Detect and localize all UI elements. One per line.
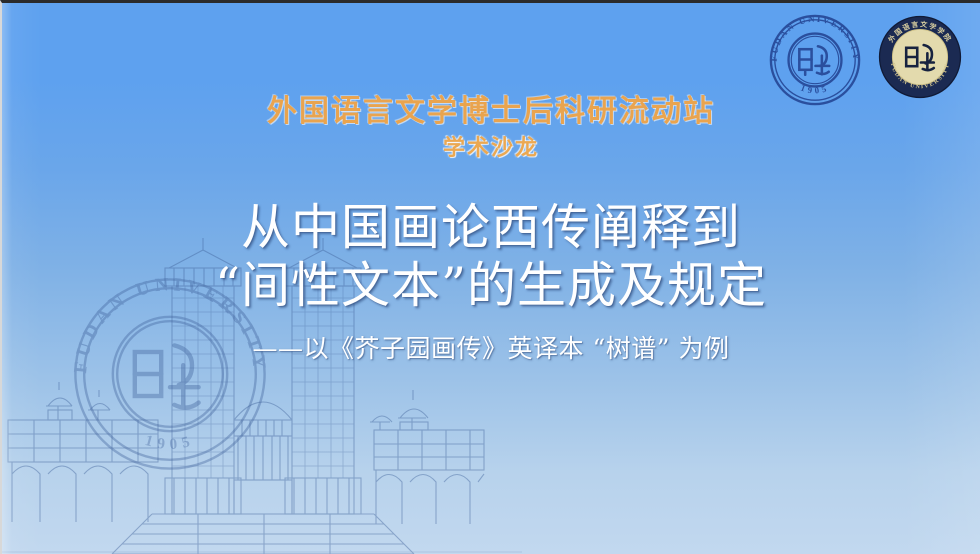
svg-text:FUDAN UNIVERSITY: FUDAN UNIVERSITY (769, 14, 862, 62)
svg-text:1905: 1905 (143, 432, 197, 453)
header-block: 外国语言文学博士后科研流动站 学术沙龙 (2, 95, 980, 161)
fudan-foreign-languages-seal-icon: 外国语言文学学院 FUDAN UNIVERSITY (874, 11, 966, 103)
subtitle: ——以《芥子园画传》英译本 “树谱” 为例 (2, 333, 980, 365)
title-line-2: “间性文本”的生成及规定 (2, 257, 980, 315)
organization-line: 外国语言文学博士后科研流动站 (2, 95, 980, 129)
title-slide: FUDAN UNIVERSITY 1905 (0, 0, 980, 554)
event-line: 学术沙龙 (2, 135, 980, 161)
svg-text:1905: 1905 (799, 82, 830, 95)
title-line-1: 从中国画论西传阐释到 (2, 199, 980, 257)
page-title: 从中国画论西传阐释到 “间性文本”的生成及规定 (2, 199, 980, 315)
